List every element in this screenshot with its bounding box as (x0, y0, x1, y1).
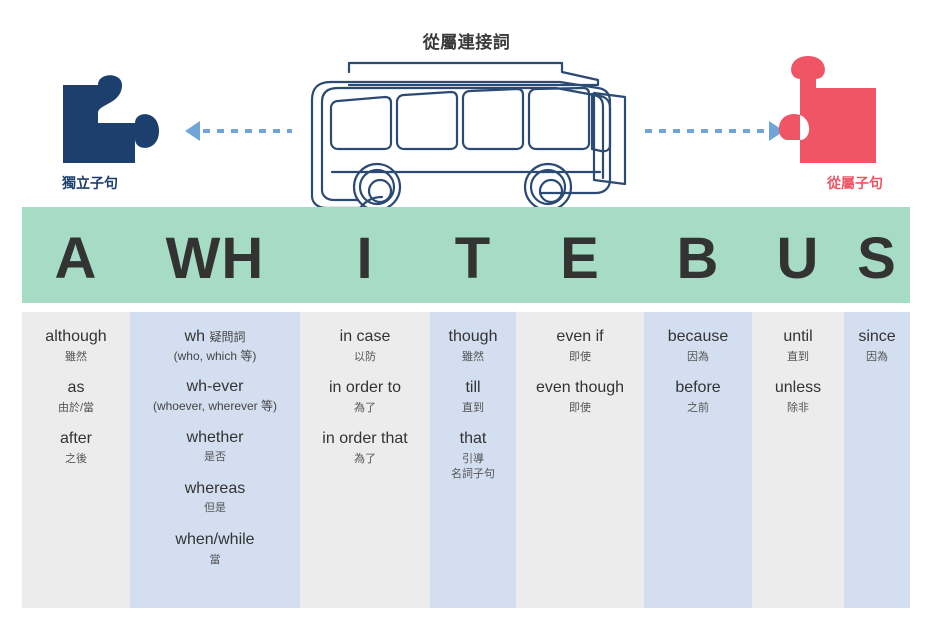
conjunction-term: before (644, 377, 752, 399)
conjunction-term: as (22, 377, 130, 399)
conjunction-entry: whereas但是 (130, 478, 300, 517)
banner-letter-t: T (430, 230, 516, 288)
conjunction-translation: 因為 (644, 349, 752, 366)
conjunction-entry: wh 疑問詞(who, which 等) (130, 326, 300, 364)
conjunction-translation: 由於/當 (22, 400, 130, 417)
conjunction-translation: 雖然 (22, 349, 130, 366)
conjunction-translation: 引導 (430, 451, 516, 468)
conjunction-entry: in case以防 (300, 326, 430, 365)
banner-letter-wh: WH (130, 230, 300, 288)
conjunction-term: since (844, 326, 910, 348)
conjunction-entry: when/while當 (130, 529, 300, 568)
conjunction-entry: till直到 (430, 377, 516, 416)
conjunction-term: whether (130, 427, 300, 449)
conjunction-examples: (whoever, wherever 等) (130, 398, 300, 415)
conjunction-entry: though雖然 (430, 326, 516, 365)
conjunction-entry: because因為 (644, 326, 752, 365)
conjunction-entry: until直到 (752, 326, 844, 365)
column-wh: wh 疑問詞(who, which 等)wh-ever(whoever, whe… (130, 312, 300, 608)
banner-letter-b: B (644, 230, 752, 288)
bus-line-drawing-icon (312, 63, 625, 210)
conjunction-translation: 直到 (752, 349, 844, 366)
right-puzzle-label: 從屬子句 (827, 173, 883, 193)
left-puzzle-piece-icon (63, 75, 159, 163)
conjunction-entry: even though即使 (516, 377, 644, 416)
conjunction-entry: even if即使 (516, 326, 644, 365)
page-title: 從屬連接詞 (0, 28, 933, 53)
column-e: even if即使even though即使 (516, 312, 644, 608)
banner-letter-u: U (752, 230, 844, 288)
conjunction-entry: after之後 (22, 428, 130, 467)
conjunction-term: until (752, 326, 844, 348)
conjunction-term-cn: 疑問詞 (209, 330, 245, 344)
conjunction-columns: although雖然as由於/當after之後wh 疑問詞(who, which… (22, 312, 910, 608)
conjunction-term: till (430, 377, 516, 399)
conjunction-entry: before之前 (644, 377, 752, 416)
conjunction-term: in order that (300, 428, 430, 450)
conjunction-entry: as由於/當 (22, 377, 130, 416)
awhitebus-letters: AWHITEBUS (22, 224, 910, 294)
conjunction-term: wh-ever (130, 376, 300, 398)
conjunction-translation: 直到 (430, 400, 516, 417)
conjunction-entry: whether是否 (130, 427, 300, 466)
conjunction-entry: although雖然 (22, 326, 130, 365)
conjunction-translation: 以防 (300, 349, 430, 366)
column-s: since因為 (844, 312, 910, 608)
conjunction-entry: in order that為了 (300, 428, 430, 467)
conjunction-translation: 為了 (300, 451, 430, 468)
arrow-right-dashed-icon (645, 121, 784, 141)
conjunction-translation: 即使 (516, 349, 644, 366)
conjunction-translation: 因為 (844, 349, 910, 366)
infographic-root: 從屬連接詞 (0, 0, 933, 638)
banner-letter-a: A (22, 230, 130, 288)
arrow-left-dashed-icon (185, 121, 292, 141)
conjunction-translation: 雖然 (430, 349, 516, 366)
conjunction-entry: unless除非 (752, 377, 844, 416)
column-i: in case以防in order to為了in order that為了 (300, 312, 430, 608)
conjunction-entry: that引導名詞子句 (430, 428, 516, 483)
column-t: though雖然till直到that引導名詞子句 (430, 312, 516, 608)
conjunction-translation: 當 (130, 552, 300, 569)
conjunction-examples: (who, which 等) (130, 348, 300, 365)
conjunction-translation: 除非 (752, 400, 844, 417)
conjunction-term: though (430, 326, 516, 348)
conjunction-term: that (430, 428, 516, 450)
conjunction-term: because (644, 326, 752, 348)
left-puzzle-label: 獨立子句 (62, 173, 118, 193)
column-u: until直到unless除非 (752, 312, 844, 608)
conjunction-translation: 即使 (516, 400, 644, 417)
banner-letter-i: I (300, 230, 430, 288)
right-puzzle-piece-icon (779, 56, 876, 163)
conjunction-term: even if (516, 326, 644, 348)
conjunction-translation: 為了 (300, 400, 430, 417)
conjunction-term: even though (516, 377, 644, 399)
conjunction-term: wh 疑問詞 (130, 326, 300, 348)
conjunction-term: unless (752, 377, 844, 399)
conjunction-term: after (22, 428, 130, 450)
conjunction-entry: wh-ever(whoever, wherever 等) (130, 376, 300, 414)
conjunction-term: whereas (130, 478, 300, 500)
conjunction-term: in case (300, 326, 430, 348)
conjunction-entry: in order to為了 (300, 377, 430, 416)
conjunction-term: although (22, 326, 130, 348)
conjunction-translation-line2: 名詞子句 (430, 467, 516, 483)
conjunction-entry: since因為 (844, 326, 910, 365)
banner-letter-e: E (516, 230, 644, 288)
conjunction-translation: 是否 (130, 449, 300, 466)
conjunction-translation: 之後 (22, 451, 130, 468)
conjunction-term: when/while (130, 529, 300, 551)
conjunction-term: in order to (300, 377, 430, 399)
column-a: although雖然as由於/當after之後 (22, 312, 130, 608)
conjunction-translation: 但是 (130, 500, 300, 517)
conjunction-translation: 之前 (644, 400, 752, 417)
column-b: because因為before之前 (644, 312, 752, 608)
banner-letter-s: S (844, 230, 910, 288)
